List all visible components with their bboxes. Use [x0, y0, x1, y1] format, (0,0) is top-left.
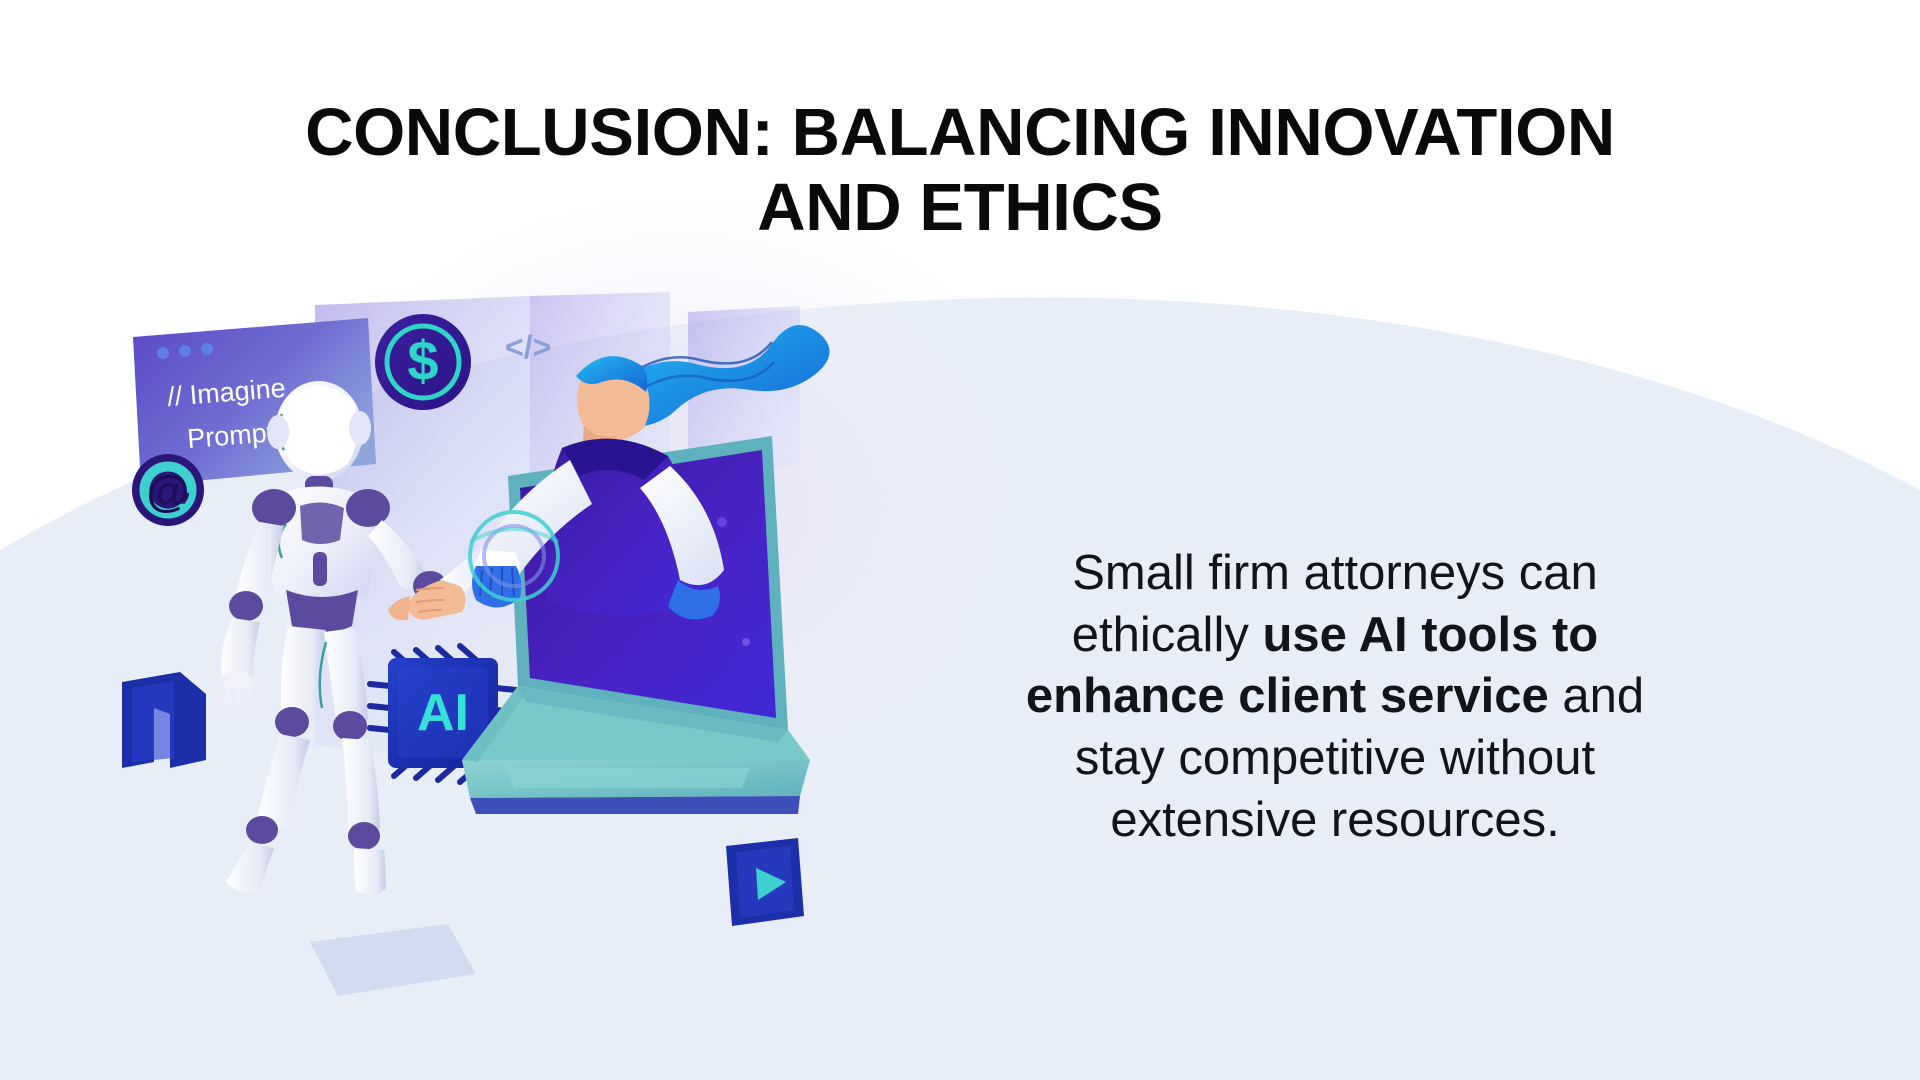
slide-canvas: CONCLUSION: BALANCING INNOVATION AND ETH…: [0, 0, 1920, 1080]
card-dot-1: [157, 347, 169, 359]
body-paragraph: Small firm attorneys can ethically use A…: [985, 543, 1685, 852]
code-snippet-icon: </>: [505, 329, 551, 365]
card-dot-2: [179, 345, 191, 357]
page-title: CONCLUSION: BALANCING INNOVATION AND ETH…: [50, 95, 1870, 245]
svg-text:@: @: [147, 467, 190, 516]
svg-text:$: $: [407, 329, 438, 392]
dollar-coin-icon: $: [375, 314, 471, 410]
n-logo-icon: n: [122, 672, 206, 768]
floating-card-shadow: [310, 924, 476, 996]
at-symbol-icon: @: [132, 454, 204, 526]
title-line-2: AND ETHICS: [50, 170, 1870, 245]
hero-illustration: // Imagine Prompt__ </> $ @: [110, 290, 910, 1030]
title-line-1: CONCLUSION: BALANCING INNOVATION: [50, 95, 1870, 170]
robot-left-hand: [216, 671, 261, 720]
ai-chip-label: AI: [417, 684, 469, 742]
play-button-icon: [726, 838, 804, 926]
card-dot-3: [201, 343, 213, 355]
